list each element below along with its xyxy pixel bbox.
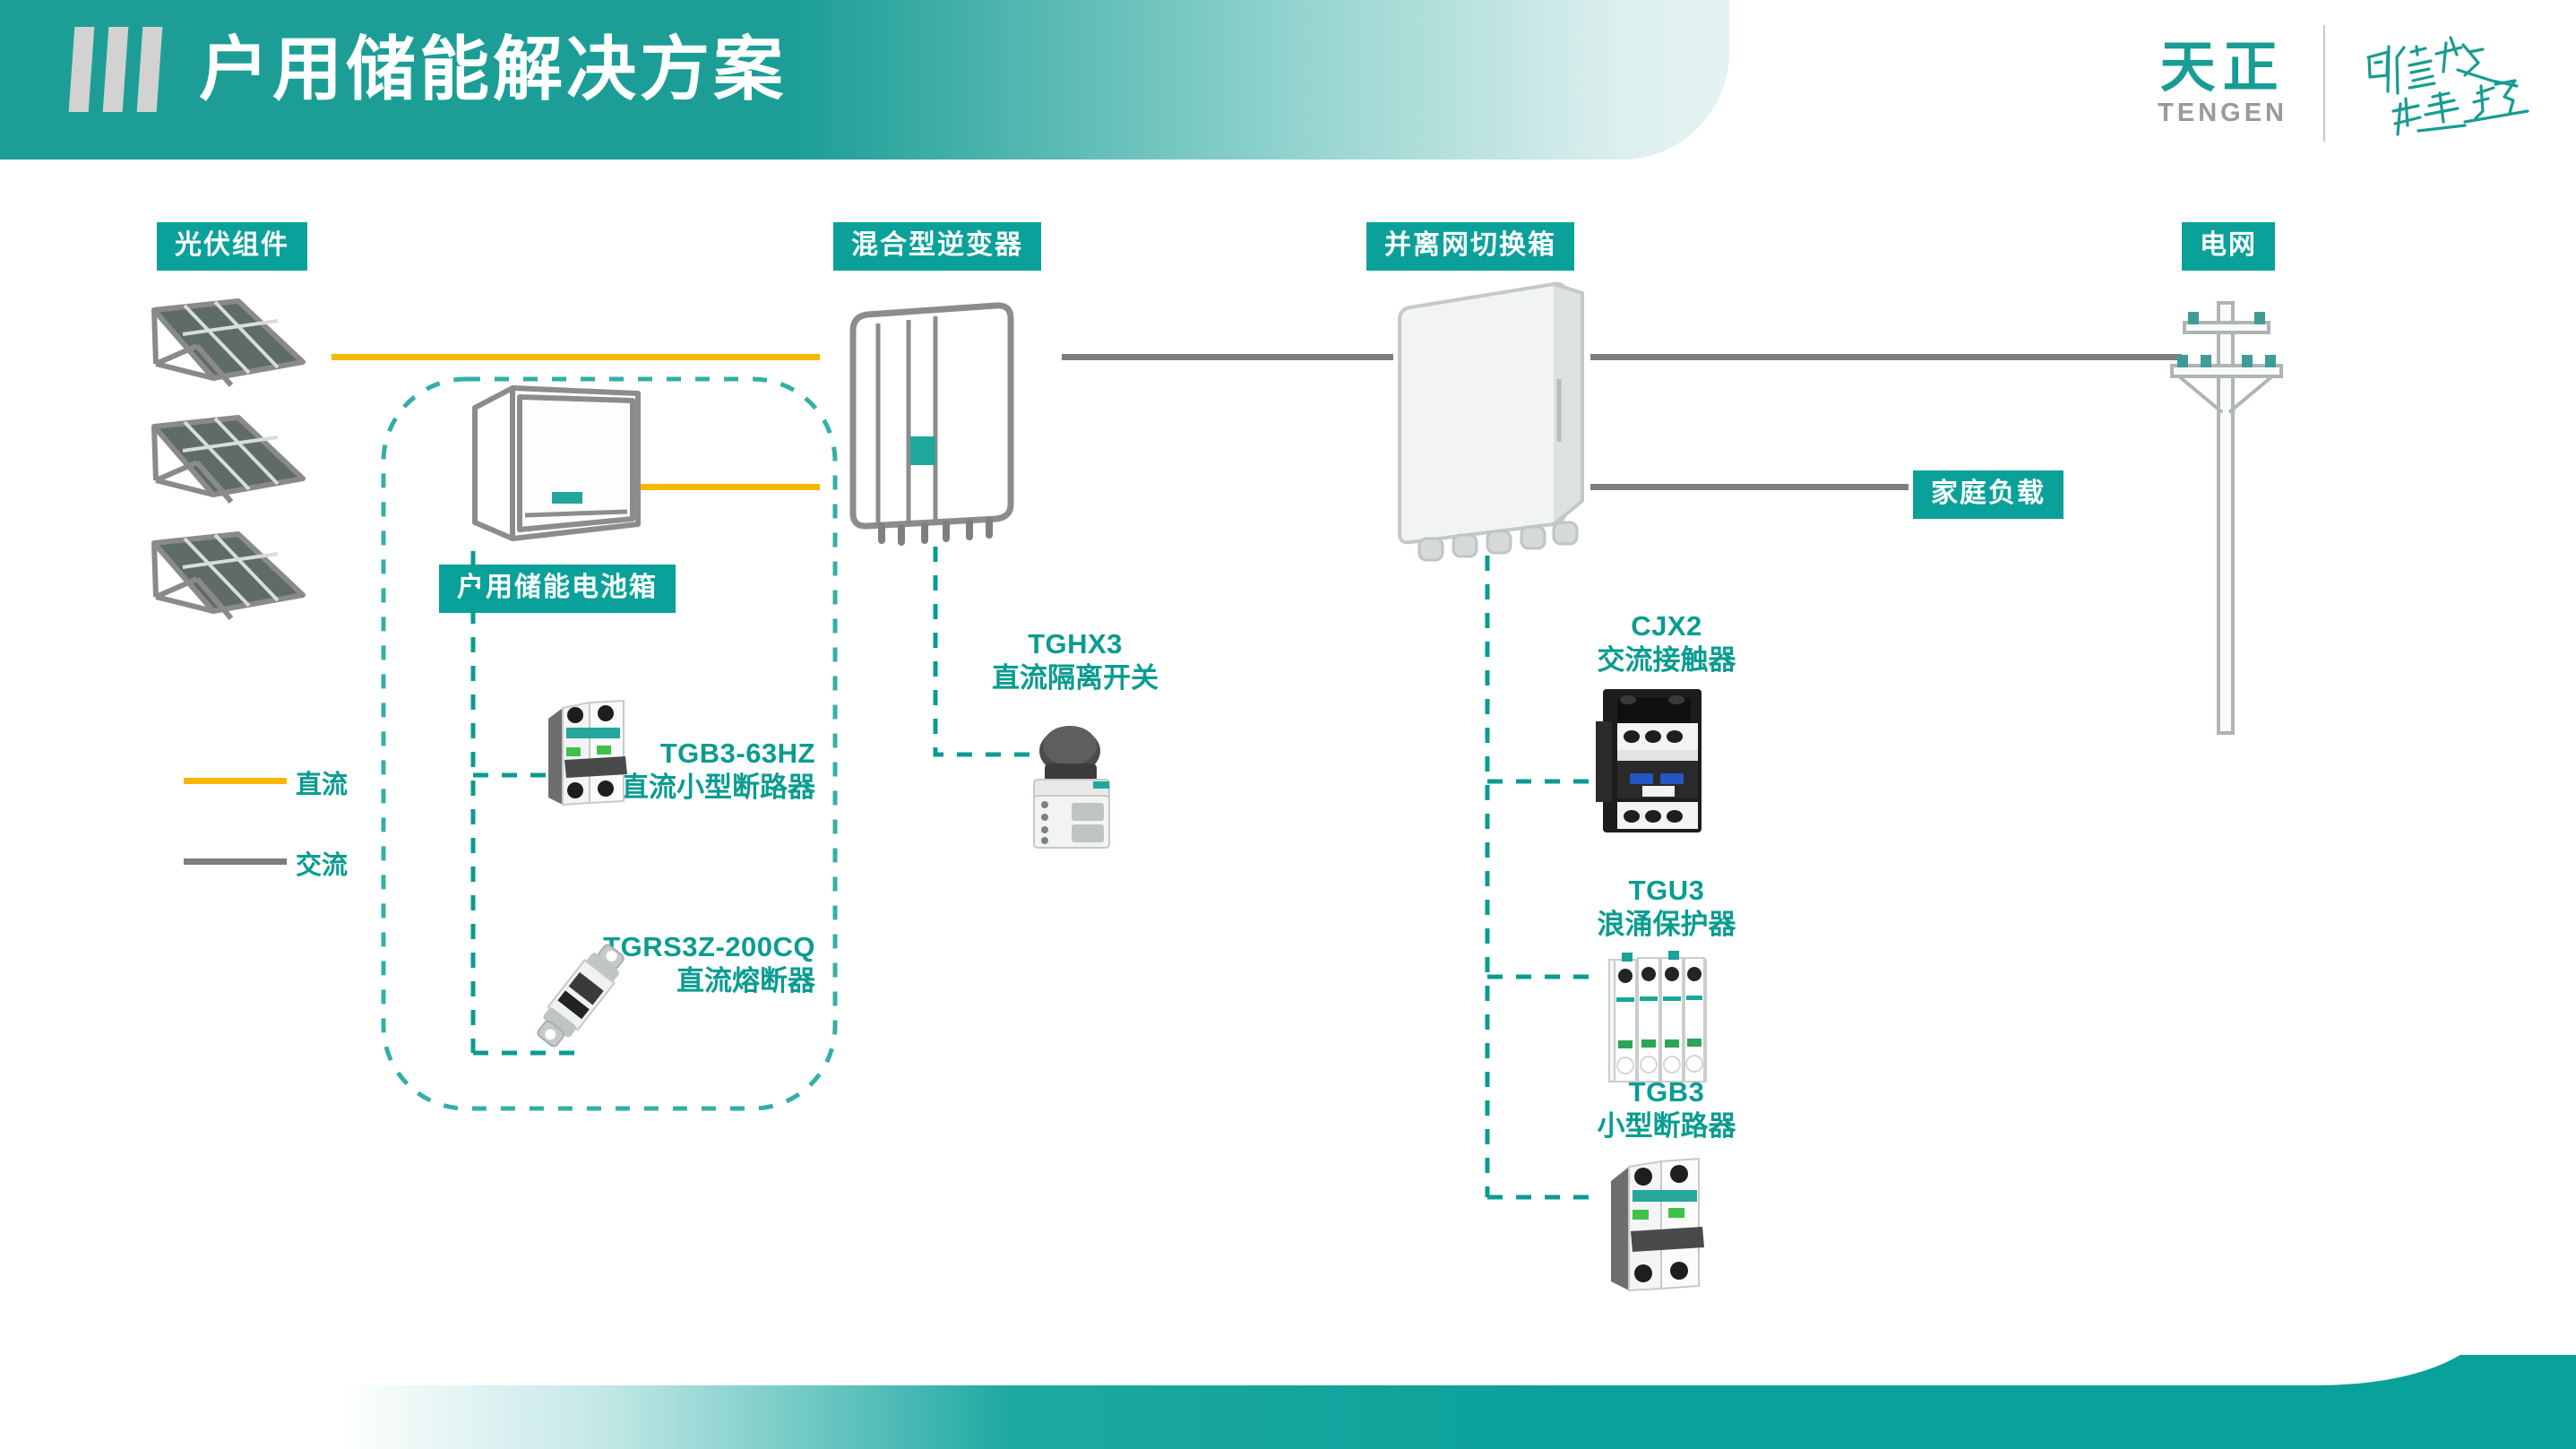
rotary-isolator-icon [1011,717,1132,856]
page-footer-decoration [0,1355,2576,1449]
fuse-icon [520,932,636,1066]
pv-panel-icon-1 [143,296,314,403]
legend-swatch-ac [184,858,287,865]
grid-switch-cabinet-icon [1387,273,1593,560]
battery-cabinet-icon [466,381,645,551]
legend-label-ac: 交流 [296,844,348,882]
wire-inverter-to-switchbox-ac [1062,354,1393,360]
page-header: 户用储能解决方案 [0,0,1729,160]
wire-pv-to-inverter-dc [332,354,820,360]
mcb-2pole-icon [1597,1154,1713,1302]
component-model: CJX2 [1523,609,1810,643]
hybrid-inverter-icon [842,300,1021,542]
component-caption-cjx2: CJX2 交流接触器 [1523,609,1810,677]
component-name: 小型断路器 [1523,1109,1810,1143]
stage-label-switchbox: 并离网切换箱 [1366,222,1574,271]
component-caption-tghx3: TGHX3 直流隔离开关 [932,627,1219,695]
brand-mark: 天正 TENGEN [2158,39,2287,128]
stripe-3 [137,27,163,112]
stage-label-pv: 光伏组件 [157,222,307,271]
component-name: 直流隔离开关 [932,661,1219,695]
component-model: TGB3 [1523,1075,1810,1109]
pv-panel-icon-3 [143,529,314,636]
legend-swatch-dc [184,778,287,784]
component-model: TGHX3 [932,627,1219,661]
stage-label-inverter: 混合型逆变器 [833,222,1041,271]
brand-logo: 天正 TENGEN [2158,25,2549,142]
brand-name-en: TENGEN [2158,98,2287,128]
stage-label-grid: 电网 [2182,222,2275,271]
brand-divider [2323,25,2325,142]
component-name: 浪涌保护器 [1523,908,1810,942]
wire-switchbox-to-grid-ac [1590,354,2182,360]
component-caption-tgu3: TGU3 浪涌保护器 [1523,874,1810,942]
spd-icon [1597,947,1718,1091]
contactor-icon [1590,686,1720,838]
stripe-1 [69,27,95,112]
pv-panel-icon-2 [143,412,314,520]
component-caption-tgb3: TGB3 小型断路器 [1523,1075,1810,1143]
power-pole-icon [2168,287,2285,735]
component-model: TGU3 [1523,874,1810,908]
wire-switchbox-to-load-ac [1590,484,1908,490]
stage-label-load: 家庭负载 [1913,470,2063,519]
mcb-2pole-icon [536,697,643,814]
header-stripe-decoration [72,27,159,112]
page-title: 户用储能解决方案 [199,20,787,118]
brand-slogan-handwriting [2361,25,2549,142]
legend-label-dc: 直流 [296,763,348,801]
stripe-2 [103,27,129,112]
component-name: 交流接触器 [1523,643,1810,677]
brand-name-cn: 天正 [2160,39,2286,98]
